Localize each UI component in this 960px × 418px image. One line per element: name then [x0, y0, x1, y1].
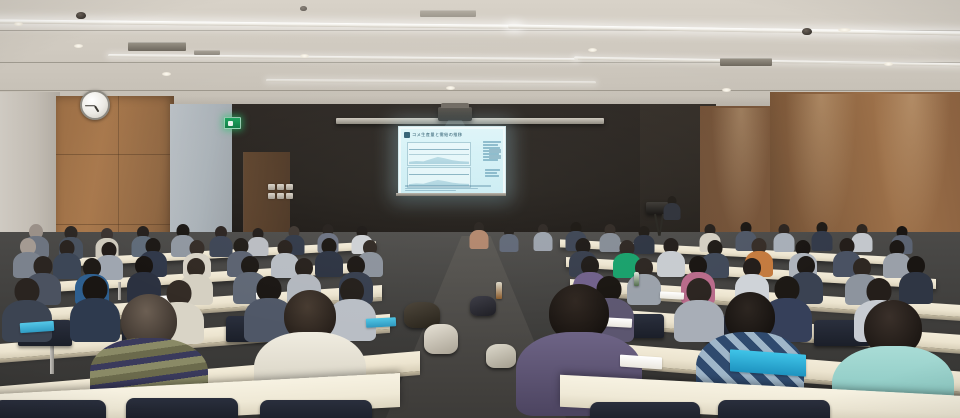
attendee [900, 256, 932, 302]
ceiling-downlight [300, 54, 309, 58]
presenter [470, 222, 488, 248]
slide-title-row: コメ生産量と需給の推移 [404, 131, 500, 138]
screen-bottom-bar [396, 193, 506, 196]
attendee [658, 238, 684, 274]
chair[interactable] [260, 400, 372, 418]
ceiling-sensor-icon [300, 6, 307, 11]
ceiling-downlight [722, 88, 731, 92]
desk-leg [50, 344, 54, 374]
slide-highlight-badge [489, 155, 501, 159]
chair[interactable] [126, 398, 238, 418]
ceiling-downlight [446, 86, 455, 90]
ceiling-air-vent [720, 58, 772, 66]
lecture-hall-photo: コメ生産量と需給の推移 [0, 0, 960, 418]
slide-highlight-badge [489, 149, 501, 153]
ceiling-sensor-icon [76, 12, 86, 19]
ceiling-air-vent [194, 50, 220, 55]
slide-title-text: コメ生産量と需給の推移 [412, 132, 462, 138]
light-switch-panel[interactable] [268, 184, 294, 201]
attendee [500, 226, 518, 250]
ceiling-air-vent [420, 10, 476, 17]
slide-chart-upper [407, 142, 471, 166]
ceiling-air-vent [128, 42, 186, 51]
chair[interactable] [0, 400, 106, 418]
ceiling-downlight [884, 62, 893, 66]
slide-legend-lower [485, 169, 501, 177]
ceiling-downlight [14, 22, 23, 26]
ceiling-downlight [588, 48, 597, 52]
attendee [534, 224, 552, 250]
exit-sign-icon [224, 117, 241, 129]
projection-screen: コメ生産量と需給の推移 [398, 126, 506, 196]
ceiling-projector [438, 107, 472, 121]
water-bottle [496, 282, 502, 299]
slide-title-marker [404, 132, 410, 138]
ceiling-seam [0, 90, 960, 91]
floor-bag [486, 344, 516, 368]
ceiling-downlight [74, 44, 83, 48]
slide-footnote [405, 185, 499, 191]
chair[interactable] [590, 402, 700, 418]
blue-folder [366, 317, 396, 328]
chair[interactable] [718, 400, 830, 418]
ceiling-downlight [162, 72, 171, 76]
ceiling-downlight [838, 28, 851, 32]
floor-bag [470, 296, 496, 316]
wall-clock [80, 90, 110, 120]
slide-content: コメ生産量と需給の推移 [401, 129, 503, 193]
camera-operator [664, 196, 680, 218]
ceiling-sensor-icon [802, 28, 812, 35]
floor-bag [424, 324, 458, 354]
